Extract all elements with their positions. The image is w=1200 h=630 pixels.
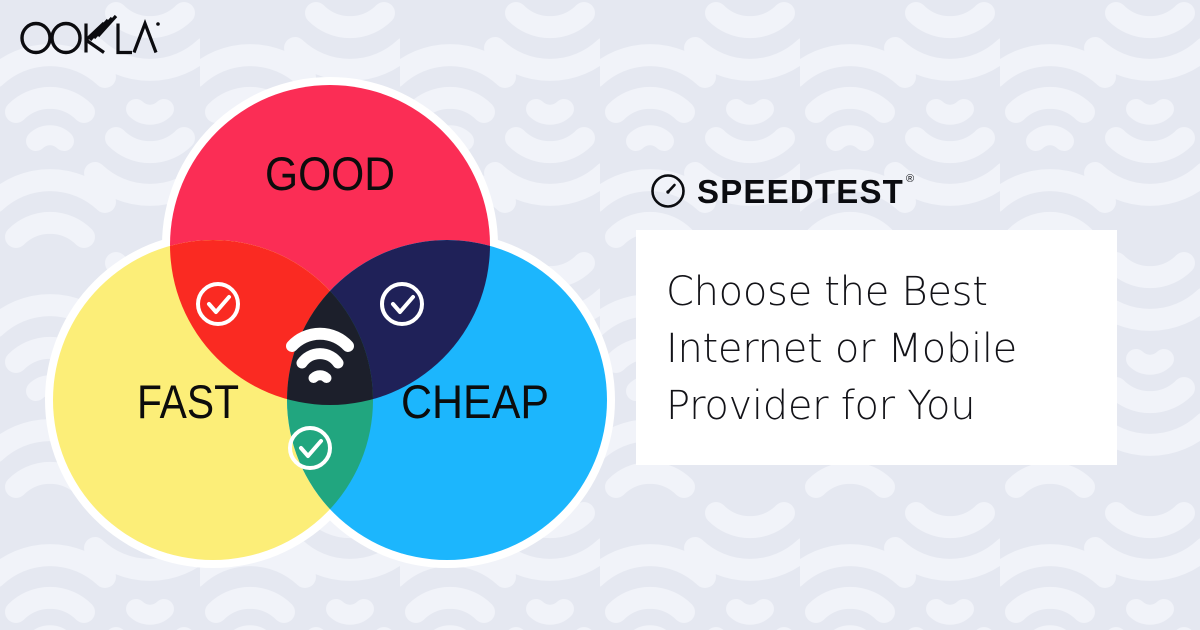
venn-label-fast: FAST	[137, 375, 239, 428]
headline-line-3: Provider for You	[666, 378, 1081, 435]
speedtest-registered-mark: ®	[906, 174, 914, 185]
right-content-column: SPEEDTEST ® Choose the Best Internet or …	[636, 168, 1121, 465]
headline-line-1: Choose the Best	[666, 264, 1081, 321]
headline-card: Choose the Best Internet or Mobile Provi…	[636, 230, 1117, 465]
venn-label-good: GOOD	[265, 147, 395, 200]
speedtest-wordmark: SPEEDTEST	[697, 175, 904, 208]
venn-label-cheap: CHEAP	[401, 375, 549, 428]
venn-diagram: GOOD FAST CHEAP	[45, 55, 615, 585]
registered-mark-dot	[156, 22, 160, 26]
speedometer-icon	[650, 173, 686, 209]
headline-line-2: Internet or Mobile	[666, 321, 1081, 378]
speedtest-logo: SPEEDTEST ®	[636, 168, 1121, 214]
poster-canvas: GOOD FAST CHEAP	[0, 0, 1200, 630]
ookla-logo	[14, 14, 164, 60]
